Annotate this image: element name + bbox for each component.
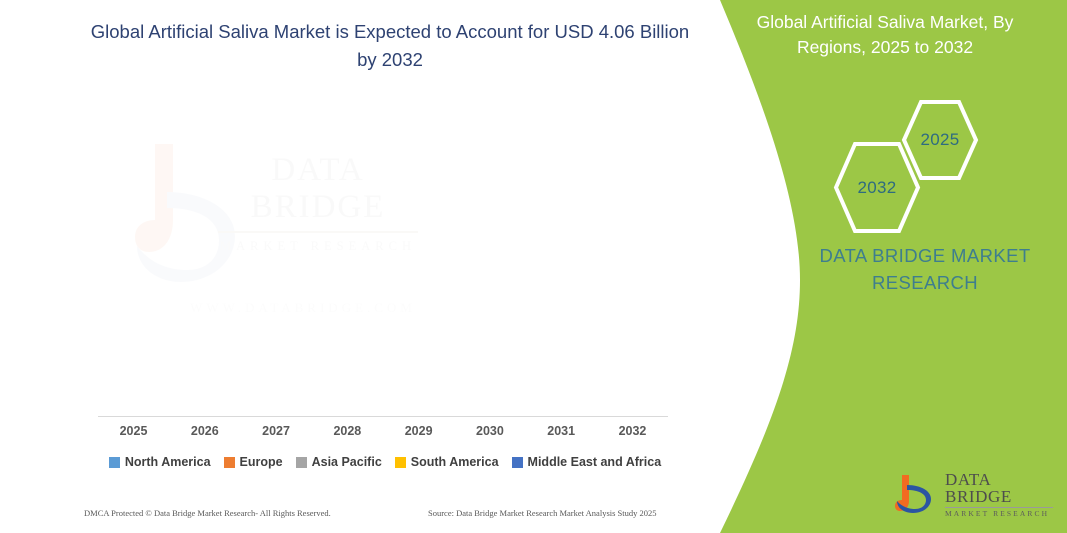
bar-chart-plot <box>98 120 668 416</box>
bar-column <box>169 120 240 416</box>
chart-legend: North AmericaEuropeAsia PacificSouth Ame… <box>90 455 680 469</box>
legend-swatch <box>395 457 406 468</box>
brand-wordmark: DATA BRIDGE MARKET RESEARCH <box>945 471 1053 518</box>
bar-column <box>597 120 668 416</box>
legend-item[interactable]: North America <box>109 455 211 469</box>
legend-item[interactable]: Europe <box>224 455 283 469</box>
legend-swatch <box>296 457 307 468</box>
legend-swatch <box>224 457 235 468</box>
databridge-b-mark-icon <box>893 471 939 517</box>
brand-wordmark-top: DATA BRIDGE <box>945 471 1053 505</box>
hexagon-label-2025: 2025 <box>920 130 959 150</box>
hexagon-label-2032: 2032 <box>857 178 896 198</box>
legend-label: South America <box>411 455 499 469</box>
panel-brand-text: DATA BRIDGE MARKET RESEARCH <box>800 242 1050 296</box>
footer-copyright: DMCA Protected © Data Bridge Market Rese… <box>84 508 331 518</box>
legend-label: Asia Pacific <box>312 455 382 469</box>
bar-column <box>526 120 597 416</box>
panel-title: Global Artificial Saliva Market, By Regi… <box>720 10 1050 60</box>
footer-source: Source: Data Bridge Market Research Mark… <box>428 508 657 518</box>
page-title: Global Artificial Saliva Market is Expec… <box>90 18 690 74</box>
bar-column <box>383 120 454 416</box>
x-axis-label: 2026 <box>169 424 240 438</box>
x-axis-label: 2030 <box>454 424 525 438</box>
hexagon-badge-2025: 2025 <box>901 98 979 182</box>
brand-logo: DATA BRIDGE MARKET RESEARCH <box>893 468 1053 520</box>
x-axis-label: 2027 <box>241 424 312 438</box>
bar-column <box>312 120 383 416</box>
legend-swatch <box>109 457 120 468</box>
brand-wordmark-rule <box>945 507 1053 508</box>
legend-swatch <box>512 457 523 468</box>
bar-column <box>241 120 312 416</box>
x-axis-labels: 20252026202720282029203020312032 <box>98 424 668 438</box>
bar-column <box>454 120 525 416</box>
bar-column <box>98 120 169 416</box>
x-axis-label: 2028 <box>312 424 383 438</box>
infographic-canvas: Global Artificial Saliva Market, By Regi… <box>0 0 1067 533</box>
x-axis-label: 2029 <box>383 424 454 438</box>
legend-item[interactable]: Middle East and Africa <box>512 455 662 469</box>
x-axis-label: 2032 <box>597 424 668 438</box>
x-axis-label: 2031 <box>526 424 597 438</box>
legend-label: Middle East and Africa <box>528 455 662 469</box>
brand-wordmark-bottom: MARKET RESEARCH <box>945 510 1053 518</box>
legend-label: North America <box>125 455 211 469</box>
legend-item[interactable]: Asia Pacific <box>296 455 382 469</box>
x-axis-line <box>98 416 668 417</box>
legend-label: Europe <box>240 455 283 469</box>
x-axis-label: 2025 <box>98 424 169 438</box>
legend-item[interactable]: South America <box>395 455 499 469</box>
